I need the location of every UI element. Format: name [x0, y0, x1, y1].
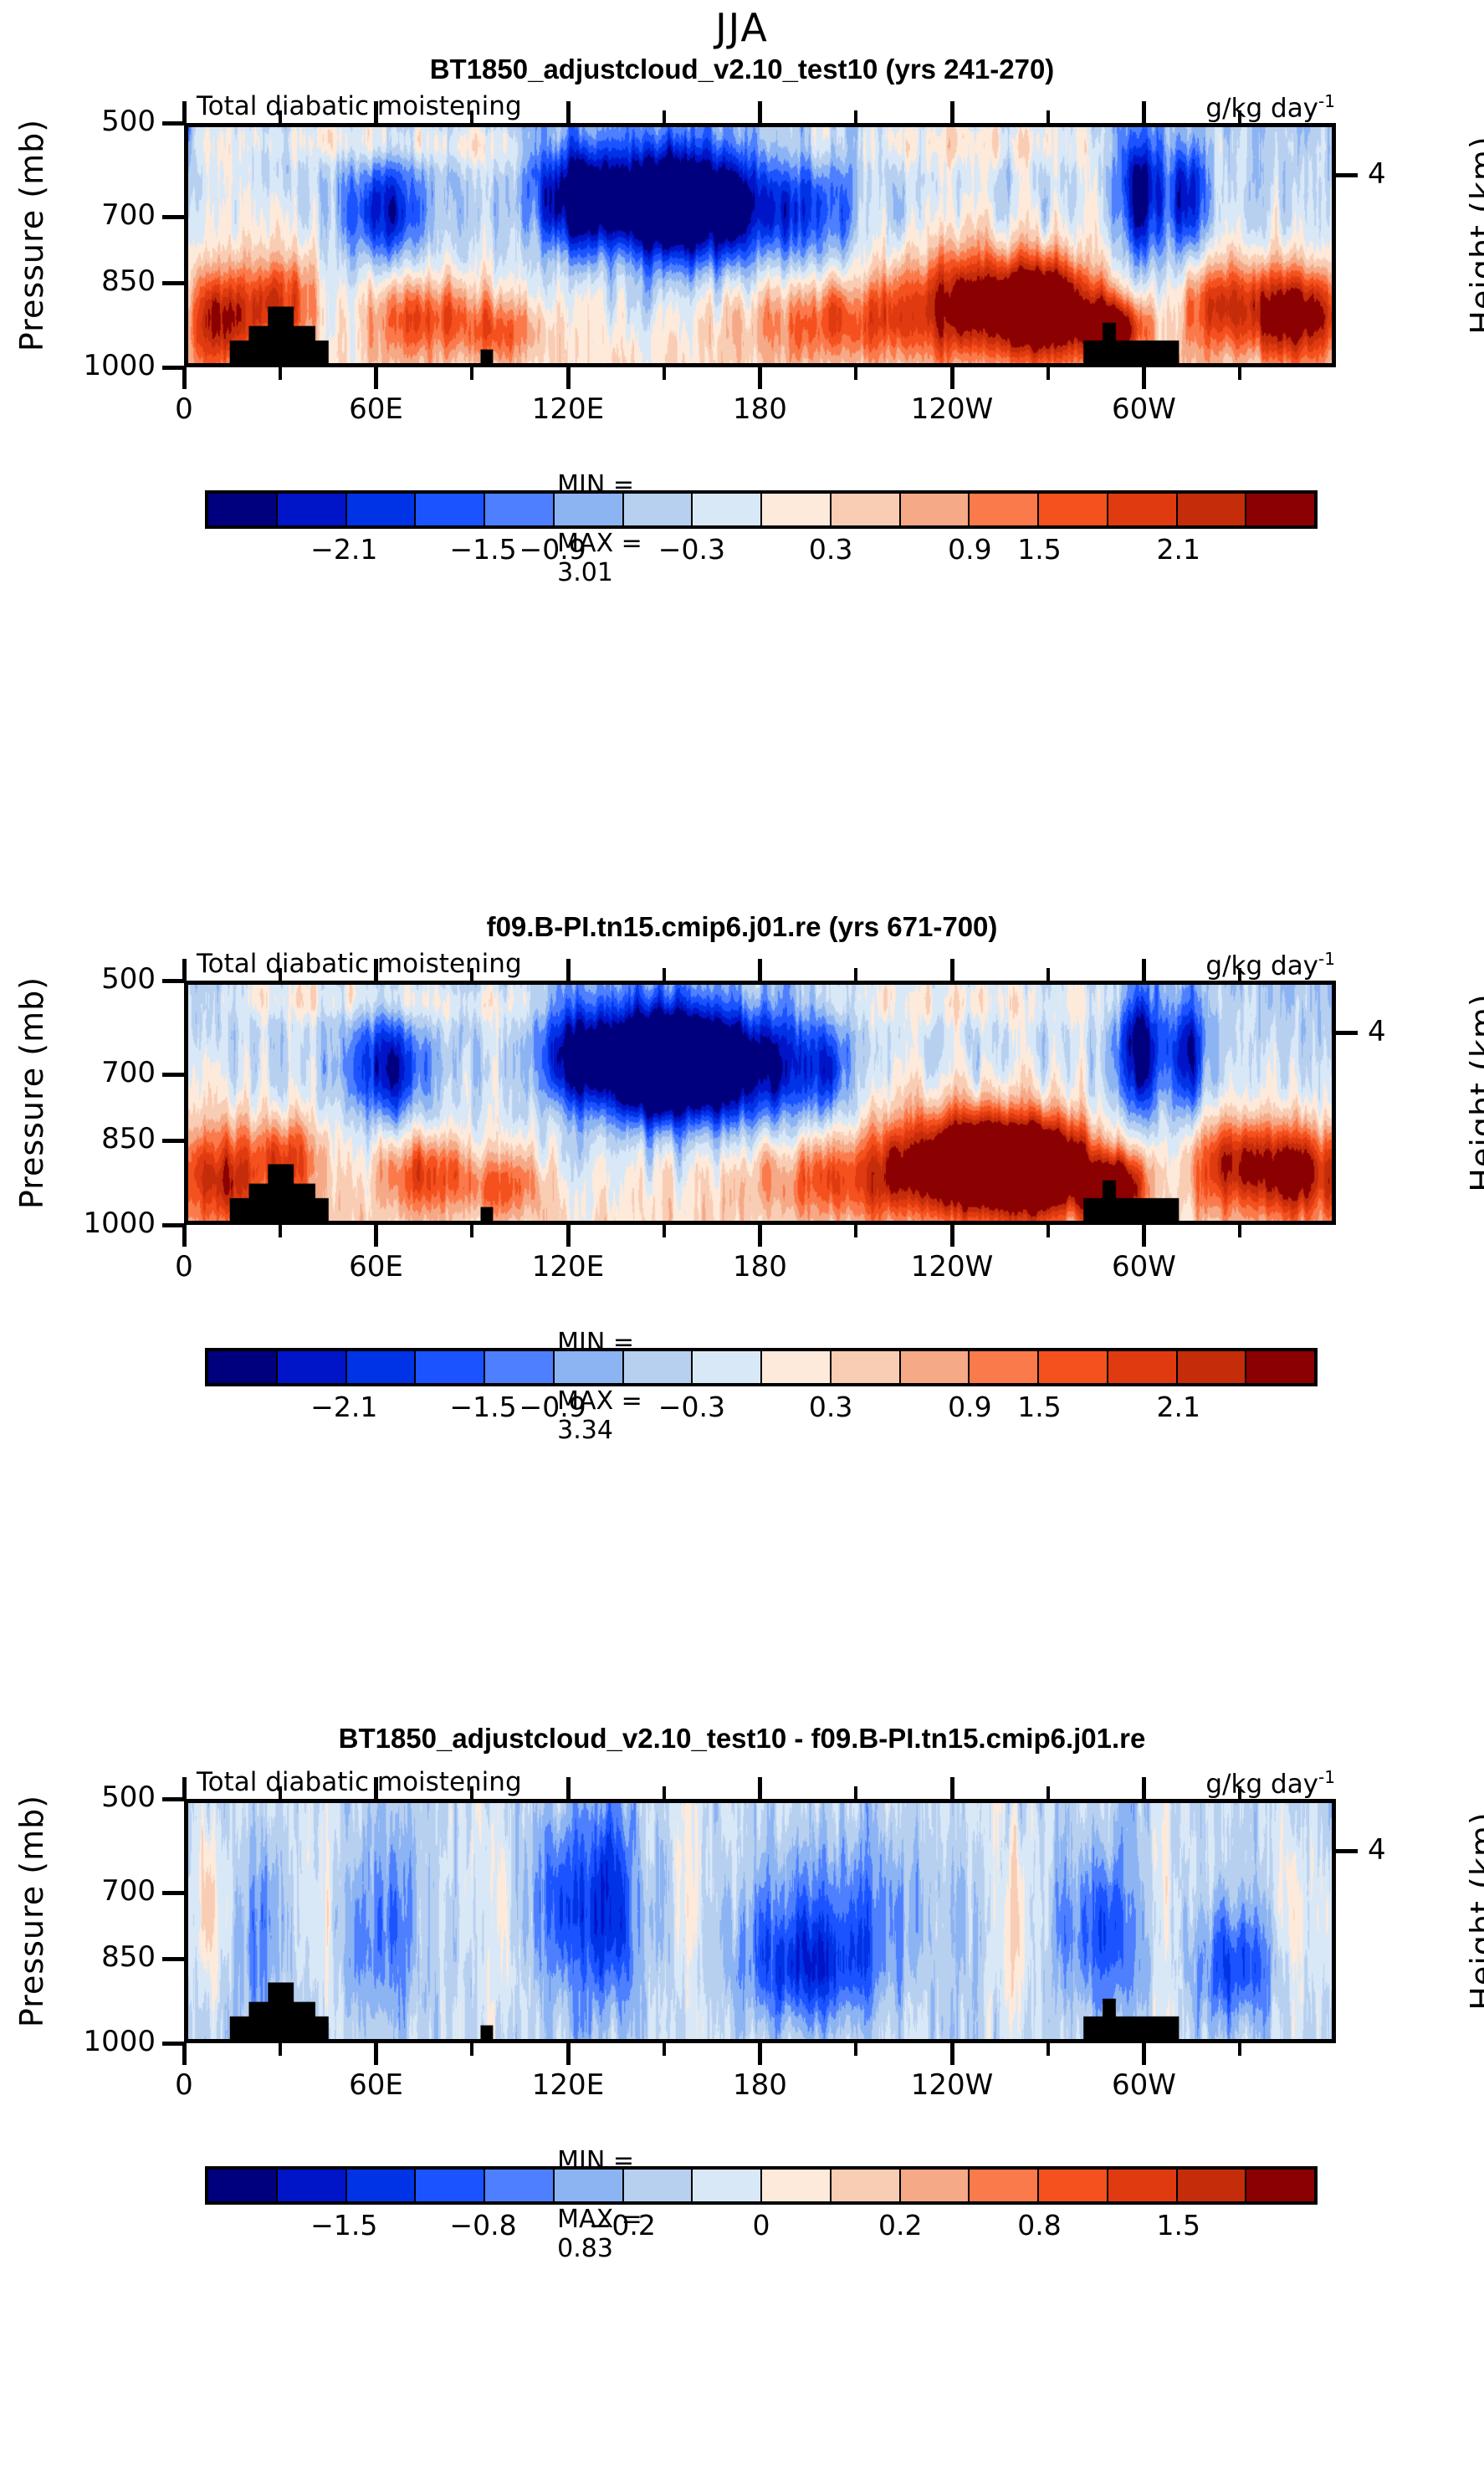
panel-3-x-tick-label-180: 180 [693, 2068, 827, 2102]
panel-1-x-minor-tick [854, 110, 857, 123]
panel-1-y-axis-label-right: Height (km) [1464, 110, 1484, 361]
figure-super-title: JJA [0, 5, 1484, 50]
panel-3-x-tick-bottom-120W [950, 2043, 954, 2065]
panel-3-x-tick-label-120W: 120W [885, 2068, 1019, 2102]
panel-2-y-tick-label-500: 500 [64, 962, 156, 996]
colorbar-segment [278, 1351, 347, 1383]
panel-1-x-minor-tick [470, 367, 473, 380]
panel-1-x-tick-bottom-60W [1142, 367, 1146, 389]
panel-1-title: BT1850_adjustcloud_v2.10_test10 (yrs 241… [0, 54, 1484, 85]
panel-1-x-tick-top-180 [758, 101, 762, 123]
panel-2-x-tick-bottom-120W [950, 1225, 954, 1247]
panel-3-colorbar-labels: −1.5−0.8−0.200.20.81.5 [205, 2209, 1318, 2246]
panel-3-x-minor-tick [470, 2043, 473, 2056]
panel-1-x-tick-bottom-120W [950, 367, 954, 389]
panel-2-x-minor-tick [1046, 968, 1050, 981]
colorbar-segment [1108, 2170, 1178, 2201]
panel-3-x-tick-label-0: 0 [117, 2068, 251, 2102]
colorbar-tick-label: −0.9 [519, 1391, 586, 1423]
panel-2-units-exponent: -1 [1318, 949, 1335, 969]
panel-2-x-tick-bottom-60W [1142, 1225, 1146, 1247]
panel-2-x-minor-tick [470, 1225, 473, 1237]
colorbar-segment [693, 494, 762, 525]
colorbar-tick-label: −2.1 [310, 1391, 377, 1423]
panel-1-height-tick-label: 4 [1368, 157, 1386, 191]
panel-1-x-tick-bottom-0 [182, 367, 187, 389]
colorbar-segment [347, 2170, 417, 2201]
colorbar-segment [1039, 494, 1108, 525]
panel-3-x-minor-tick [470, 1786, 473, 1799]
colorbar-tick-label: 0 [753, 2209, 770, 2242]
colorbar-segment [1178, 1351, 1247, 1383]
panel-3-x-minor-tick [279, 2043, 282, 2056]
colorbar-segment [624, 2170, 693, 2201]
colorbar-segment [1108, 494, 1178, 525]
panel-3-minmax: MIN = −1.62 MAX = 0.83 [525, 2117, 642, 2293]
colorbar-segment [416, 2170, 485, 2201]
colorbar-segment [901, 494, 970, 525]
panel-3-x-tick-top-120W [950, 1777, 954, 1799]
colorbar-tick-label: 0.2 [878, 2209, 922, 2242]
panel-1-x-minor-tick [854, 367, 857, 380]
colorbar-tick-label: −1.5 [449, 533, 516, 566]
panel-2-y-tick-label-850: 850 [64, 1122, 156, 1155]
panel-3-x-tick-top-0 [182, 1777, 187, 1799]
panel-2-y-tick-label-700: 700 [64, 1056, 156, 1089]
panel-2-contour-field [188, 985, 1332, 1221]
colorbar-segment [970, 1351, 1039, 1383]
colorbar-segment [624, 494, 693, 525]
panel-1-x-tick-bottom-120E [566, 367, 571, 389]
panel-3-x-tick-top-60W [1142, 1777, 1146, 1799]
colorbar-segment [1178, 2170, 1247, 2201]
panel-3-contour-field [188, 1803, 1332, 2039]
panel-3-x-tick-top-120E [566, 1777, 571, 1799]
colorbar-segment [1108, 1351, 1178, 1383]
panel-1-plot-area [184, 123, 1336, 367]
panel-2-right-label: g/kg day-1 [1205, 949, 1335, 981]
panel-2-x-tick-label-120E: 120E [501, 1250, 635, 1283]
colorbar-segment [347, 494, 417, 525]
panel-1-contour-field [188, 127, 1332, 363]
colorbar-segment [555, 1351, 624, 1383]
colorbar-tick-label: −0.3 [658, 533, 725, 566]
panel-3-y-tick-850 [162, 1957, 184, 1961]
panel-1-x-tick-top-60W [1142, 101, 1146, 123]
colorbar-segment [485, 494, 555, 525]
panel-1-x-minor-tick [663, 367, 666, 380]
panel-2-x-minor-tick [1238, 1225, 1241, 1237]
panel-1-x-tick-label-180: 180 [693, 392, 827, 426]
colorbar-segment [901, 1351, 970, 1383]
panel-1-y-tick-label-1000: 1000 [64, 349, 156, 382]
panel-2-x-tick-bottom-120E [566, 1225, 571, 1247]
colorbar-tick-label: 1.5 [1017, 1391, 1061, 1423]
panel-3-y-tick-label-500: 500 [64, 1780, 156, 1814]
colorbar-tick-label: −2.1 [310, 533, 377, 566]
colorbar-tick-label: −0.8 [449, 2209, 516, 2242]
panel-2-x-tick-top-180 [758, 959, 762, 981]
panel-1-y-tick-label-500: 500 [64, 105, 156, 138]
panel-3-plot-area [184, 1799, 1336, 2043]
panel-1-x-tick-top-120W [950, 101, 954, 123]
panel-3-x-minor-tick [279, 1786, 282, 1799]
panel-1-x-tick-label-120E: 120E [501, 392, 635, 426]
panel-2-x-tick-bottom-60E [374, 1225, 378, 1247]
panel-3-y-tick-label-850: 850 [64, 1940, 156, 1974]
panel-1-x-tick-label-120W: 120W [885, 392, 1019, 426]
panel-1-units-text: g/kg day [1205, 93, 1318, 123]
panel-1-right-label: g/kg day-1 [1205, 91, 1335, 123]
colorbar-segment [416, 1351, 485, 1383]
colorbar-segment [208, 2170, 278, 2201]
panel-2-x-tick-top-120W [950, 959, 954, 981]
panel-3-height-tick-label: 4 [1368, 1833, 1386, 1867]
colorbar-segment [555, 494, 624, 525]
colorbar-segment [901, 2170, 970, 2201]
colorbar-tick-label: −0.9 [519, 533, 586, 566]
panel-1-x-tick-label-0: 0 [117, 392, 251, 426]
panel-2-x-tick-top-60W [1142, 959, 1146, 981]
panel-1-x-tick-top-120E [566, 101, 571, 123]
colorbar-segment [832, 2170, 901, 2201]
panel-2-x-tick-top-0 [182, 959, 187, 981]
panel-3-x-tick-label-60E: 60E [310, 2068, 443, 2102]
colorbar-tick-label: −0.2 [589, 2209, 656, 2242]
colorbar-segment [1178, 494, 1247, 525]
colorbar-segment [208, 1351, 278, 1383]
panel-3-x-tick-bottom-180 [758, 2043, 762, 2065]
colorbar-tick-label: 0.3 [809, 533, 852, 566]
panel-3-x-minor-tick [1046, 2043, 1050, 2056]
colorbar-segment [624, 1351, 693, 1383]
panel-3-title: BT1850_adjustcloud_v2.10_test10 - f09.B-… [0, 1723, 1484, 1755]
panel-3-units-exponent: -1 [1318, 1767, 1335, 1787]
colorbar-segment [970, 494, 1039, 525]
panel-3-y-tick-label-1000: 1000 [64, 2025, 156, 2058]
colorbar-tick-label: 0.8 [1017, 2209, 1061, 2242]
panel-1-colorbar [205, 490, 1318, 529]
colorbar-tick-label: 0.3 [809, 1391, 852, 1423]
panel-1-colorbar-labels: −2.1−1.5−0.9−0.30.30.91.52.1 [205, 533, 1318, 570]
panel-3-x-minor-tick [854, 1786, 857, 1799]
panel-2-x-minor-tick [279, 1225, 282, 1237]
colorbar-tick-label: 1.5 [1017, 533, 1061, 566]
colorbar-segment [208, 494, 278, 525]
panel-2-x-tick-label-60E: 60E [310, 1250, 443, 1283]
colorbar-segment [347, 1351, 417, 1383]
panel-2-y-tick-1000 [162, 1223, 184, 1227]
panel-2-x-tick-label-0: 0 [117, 1250, 251, 1283]
panel-2-colorbar-labels: −2.1−1.5−0.9−0.30.30.91.52.1 [205, 1391, 1318, 1427]
panel-1-x-minor-tick [279, 110, 282, 123]
colorbar-segment [555, 2170, 624, 2201]
colorbar-segment [278, 2170, 347, 2201]
panel-2-minmax: MIN = −2.27 MAX = 3.34 [525, 1299, 642, 1474]
panel-2-x-minor-tick [1238, 968, 1241, 981]
colorbar-tick-label: −0.3 [658, 1391, 725, 1423]
panel-2-x-minor-tick [1046, 1225, 1050, 1237]
colorbar-segment [832, 1351, 901, 1383]
panel-1-x-tick-top-60E [374, 101, 378, 123]
panel-3-x-tick-label-120E: 120E [501, 2068, 635, 2102]
panel-2-y-tick-label-1000: 1000 [64, 1207, 156, 1240]
panel-2-x-minor-tick [854, 1225, 857, 1237]
panel-1-y-tick-label-850: 850 [64, 264, 156, 298]
panel-2-colorbar [205, 1348, 1318, 1386]
colorbar-segment [1246, 494, 1314, 525]
colorbar-segment [1039, 1351, 1108, 1383]
colorbar-tick-label: −1.5 [310, 2209, 377, 2242]
panel-3-units-text: g/kg day [1205, 1769, 1318, 1799]
colorbar-segment [416, 494, 485, 525]
panel-2-x-tick-bottom-0 [182, 1225, 187, 1247]
panel-3-x-minor-tick [854, 2043, 857, 2056]
panel-3-x-tick-top-60E [374, 1777, 378, 1799]
panel-1-x-minor-tick [1046, 110, 1050, 123]
colorbar-segment [970, 2170, 1039, 2201]
panel-1-y-tick-label-700: 700 [64, 198, 156, 232]
panel-2-height-tick [1336, 1031, 1358, 1035]
panel-1-x-tick-top-0 [182, 101, 187, 123]
panel-3-y-tick-label-700: 700 [64, 1874, 156, 1908]
panel-2-x-tick-bottom-180 [758, 1225, 762, 1247]
panel-2-y-axis-label-right: Height (km) [1464, 967, 1484, 1218]
panel-1-x-minor-tick [470, 110, 473, 123]
panel-3-x-tick-bottom-0 [182, 2043, 187, 2065]
panel-3-x-minor-tick [663, 1786, 666, 1799]
panel-2-y-tick-500 [162, 979, 184, 983]
panel-3-x-minor-tick [1238, 2043, 1241, 2056]
panel-1-x-tick-bottom-60E [374, 367, 378, 389]
panel-1-units-exponent: -1 [1318, 91, 1335, 111]
panel-1-y-tick-850 [162, 281, 184, 285]
colorbar-tick-label: 0.9 [948, 533, 991, 566]
panel-2-x-minor-tick [470, 968, 473, 981]
panel-3-y-tick-1000 [162, 2042, 184, 2046]
panel-2-x-tick-top-60E [374, 959, 378, 981]
colorbar-segment [762, 2170, 832, 2201]
panel-1-y-tick-1000 [162, 366, 184, 370]
colorbar-tick-label: 2.1 [1157, 533, 1200, 566]
colorbar-segment [832, 494, 901, 525]
colorbar-tick-label: 0.9 [948, 1391, 991, 1423]
panel-2-x-minor-tick [663, 968, 666, 981]
panel-2-plot-area [184, 981, 1336, 1225]
panel-2-x-tick-label-120W: 120W [885, 1250, 1019, 1283]
panel-1-x-tick-bottom-180 [758, 367, 762, 389]
panel-2-x-minor-tick [854, 968, 857, 981]
panel-3-x-minor-tick [1046, 1786, 1050, 1799]
panel-2-height-tick-label: 4 [1368, 1015, 1386, 1048]
panel-1-minmax: MIN = −2.06 MAX = 3.01 [525, 441, 642, 617]
colorbar-segment [485, 1351, 555, 1383]
colorbar-segment [1039, 2170, 1108, 2201]
panel-2-y-tick-700 [162, 1073, 184, 1077]
colorbar-tick-label: −1.5 [449, 1391, 516, 1423]
colorbar-tick-label: 2.1 [1157, 1391, 1200, 1423]
panel-1-x-minor-tick [1238, 110, 1241, 123]
panel-3-y-tick-500 [162, 1797, 184, 1801]
panel-3-x-tick-bottom-60E [374, 2043, 378, 2065]
panel-2-title: f09.B-PI.tn15.cmip6.j01.re (yrs 671-700) [0, 911, 1484, 943]
panel-3-x-tick-top-180 [758, 1777, 762, 1799]
colorbar-segment [278, 494, 347, 525]
panel-1-x-tick-label-60E: 60E [310, 392, 443, 426]
colorbar-segment [485, 2170, 555, 2201]
panel-1-height-tick [1336, 173, 1358, 177]
panel-3-x-tick-bottom-60W [1142, 2043, 1146, 2065]
panel-1-y-tick-500 [162, 121, 184, 126]
panel-3-x-minor-tick [663, 2043, 666, 2056]
panel-3-height-tick [1336, 1849, 1358, 1853]
panel-2-y-axis-label: Pressure (mb) [13, 967, 50, 1218]
panel-3-y-axis-label: Pressure (mb) [13, 1786, 50, 2037]
colorbar-segment [762, 1351, 832, 1383]
panel-2-x-tick-label-60W: 60W [1077, 1250, 1211, 1283]
colorbar-segment [693, 1351, 762, 1383]
colorbar-segment [1246, 1351, 1314, 1383]
panel-2-x-minor-tick [279, 968, 282, 981]
panel-1-x-minor-tick [1238, 367, 1241, 380]
panel-1-x-minor-tick [663, 110, 666, 123]
panel-2-x-tick-label-180: 180 [693, 1250, 827, 1283]
panel-3-right-label: g/kg day-1 [1205, 1767, 1335, 1799]
panel-1-x-tick-label-60W: 60W [1077, 392, 1211, 426]
panel-2-y-tick-850 [162, 1139, 184, 1143]
panel-3-y-tick-700 [162, 1891, 184, 1895]
panel-1-x-minor-tick [1046, 367, 1050, 380]
panel-1-y-tick-700 [162, 215, 184, 219]
colorbar-segment [693, 2170, 762, 2201]
panel-2-units-text: g/kg day [1205, 950, 1318, 981]
panel-3-colorbar [205, 2166, 1318, 2205]
panel-3-y-axis-label-right: Height (km) [1464, 1786, 1484, 2037]
panel-1-x-minor-tick [279, 367, 282, 380]
panel-1-y-axis-label: Pressure (mb) [13, 110, 50, 361]
colorbar-segment [1246, 2170, 1314, 2201]
panel-3-x-tick-label-60W: 60W [1077, 2068, 1211, 2102]
panel-3-x-minor-tick [1238, 1786, 1241, 1799]
panel-2-x-tick-top-120E [566, 959, 571, 981]
panel-3-x-tick-bottom-120E [566, 2043, 571, 2065]
colorbar-segment [762, 494, 832, 525]
panel-2-x-minor-tick [663, 1225, 666, 1237]
colorbar-tick-label: 1.5 [1157, 2209, 1200, 2242]
